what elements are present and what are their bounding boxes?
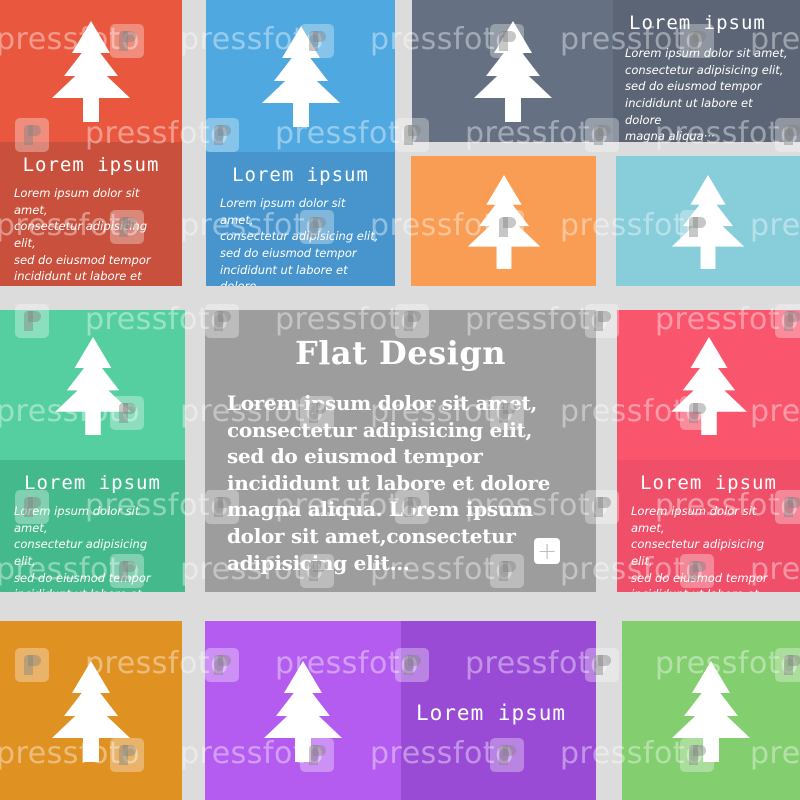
- tile-purple[interactable]: Lorem ipsum: [205, 621, 596, 800]
- christmas-tree-icon: [48, 19, 134, 123]
- body-line-1: Lorem ipsum dolor sit amet,: [14, 185, 168, 218]
- tile-teal-body: Lorem ipsum dolor sit amet, consectetur …: [14, 503, 171, 592]
- flat-design-tile-board: Lorem ipsum Lorem ipsum dolor sit amet, …: [0, 0, 800, 800]
- tile-pink-body: Lorem ipsum dolor sit amet, consectetur …: [631, 503, 786, 592]
- tile-slate-body: Lorem ipsum dolor sit amet, consectetur …: [625, 45, 790, 142]
- tile-blue-icon-area: [206, 0, 395, 152]
- feature-body: Lorem ipsum dolor sit amet, consectetur …: [227, 390, 578, 576]
- tile-teal[interactable]: Lorem ipsum Lorem ipsum dolor sit amet, …: [0, 310, 185, 592]
- body-line-2: consectetur adipisicing elit,: [14, 536, 171, 569]
- christmas-tree-icon: [258, 24, 344, 128]
- plus-icon: +: [537, 542, 557, 560]
- tile-slate-caption: Lorem ipsum Lorem ipsum dolor sit amet, …: [613, 0, 800, 142]
- body-line-3: sed do eiusmod tempor: [14, 252, 168, 269]
- body-line-2: consectetur adipisicing elit,: [220, 228, 381, 245]
- tile-green-icon-area: [622, 621, 800, 800]
- tile-purple-title: Lorem ipsum: [416, 701, 566, 725]
- body-line-2: consectetur adipisicing elit,: [14, 218, 168, 251]
- christmas-tree-icon: [668, 173, 748, 270]
- tile-pink-caption: Lorem ipsum Lorem ipsum dolor sit amet, …: [617, 460, 800, 592]
- tile-pink-title: Lorem ipsum: [631, 472, 786, 494]
- tile-amber-icon-area: [0, 621, 182, 800]
- feature-body-line-7: adipisicing elit...: [227, 550, 578, 577]
- tile-teal-icon-area: [0, 310, 185, 460]
- tile-pink[interactable]: Lorem ipsum Lorem ipsum dolor sit amet, …: [617, 310, 800, 592]
- tile-slate-title: Lorem ipsum: [629, 12, 790, 34]
- tile-amber[interactable]: [0, 621, 182, 800]
- body-line-1: Lorem ipsum dolor sit amet,: [625, 45, 790, 62]
- body-line-4: incididunt ut labore et dolore: [220, 262, 381, 286]
- tile-purple-caption: Lorem ipsum: [401, 621, 596, 800]
- body-line-1: Lorem ipsum dolor sit amet,: [220, 195, 381, 228]
- body-line-4: incididunt ut labore et dolore: [631, 586, 786, 592]
- feature-tile-flat-design[interactable]: Flat Design Lorem ipsum dolor sit amet, …: [205, 310, 596, 592]
- tile-blue-body: Lorem ipsum dolor sit amet, consectetur …: [220, 195, 381, 286]
- add-button[interactable]: +: [534, 538, 560, 564]
- tile-green[interactable]: [622, 621, 800, 800]
- feature-body-line-3: sed do eiusmod tempor: [227, 443, 578, 470]
- body-line-2: consectetur adipisicing elit,: [625, 62, 790, 79]
- christmas-tree-icon: [51, 335, 135, 436]
- christmas-tree-icon: [667, 335, 751, 436]
- tile-red-body: Lorem ipsum dolor sit amet, consectetur …: [14, 185, 168, 286]
- feature-body-line-2: consectetur adipisicing elit,: [227, 417, 578, 444]
- body-line-3: sed do eiusmod tempor: [220, 245, 381, 262]
- tile-blue[interactable]: Lorem ipsum Lorem ipsum dolor sit amet, …: [206, 0, 395, 286]
- tile-red[interactable]: Lorem ipsum Lorem ipsum dolor sit amet, …: [0, 0, 182, 286]
- body-line-3: sed do eiusmod tempor: [14, 570, 171, 587]
- tile-purple-icon-area: [205, 621, 401, 800]
- tile-red-title: Lorem ipsum: [14, 154, 168, 176]
- body-line-1: Lorem ipsum dolor sit amet,: [14, 503, 171, 536]
- body-line-4: incididunt ut labore et dolore: [625, 95, 790, 128]
- body-line-3: sed do eiusmod tempor: [625, 78, 790, 95]
- christmas-tree-icon: [260, 659, 346, 763]
- body-line-1: Lorem ipsum dolor sit amet,: [631, 503, 786, 536]
- body-line-4: incididunt ut labore et dolore: [14, 268, 168, 286]
- christmas-tree-icon: [48, 659, 134, 763]
- feature-body-line-4: incididunt ut labore et dolore: [227, 470, 578, 497]
- body-line-3: sed do eiusmod tempor: [631, 570, 786, 587]
- tile-teal-caption: Lorem ipsum Lorem ipsum dolor sit amet, …: [0, 460, 185, 592]
- body-line-5: magna aliqua···: [625, 128, 790, 142]
- christmas-tree-icon: [470, 19, 556, 123]
- tile-slate-icon-area: [412, 0, 613, 142]
- tile-pink-icon-area: [617, 310, 800, 460]
- tile-orange[interactable]: [411, 156, 596, 286]
- tile-teal-title: Lorem ipsum: [14, 472, 171, 494]
- tile-red-caption: Lorem ipsum Lorem ipsum dolor sit amet, …: [0, 142, 182, 286]
- feature-title: Flat Design: [205, 334, 596, 372]
- feature-body-line-1: Lorem ipsum dolor sit amet,: [227, 390, 578, 417]
- tile-red-icon-area: [0, 0, 182, 142]
- tile-blue-caption: Lorem ipsum Lorem ipsum dolor sit amet, …: [206, 152, 395, 286]
- christmas-tree-icon: [668, 659, 754, 763]
- christmas-tree-icon: [464, 173, 544, 270]
- tile-blue-title: Lorem ipsum: [220, 164, 381, 186]
- feature-body-line-5: magna aliqua. Lorem ipsum: [227, 496, 578, 523]
- body-line-2: consectetur adipisicing elit,: [631, 536, 786, 569]
- tile-orange-icon-area: [411, 156, 596, 286]
- tile-slate[interactable]: Lorem ipsum Lorem ipsum dolor sit amet, …: [412, 0, 800, 142]
- feature-body-line-6: dolor sit amet,consectetur: [227, 523, 578, 550]
- tile-lightblue[interactable]: [616, 156, 800, 286]
- body-line-4: incididunt ut labore et dolore: [14, 586, 171, 592]
- tile-lightblue-icon-area: [616, 156, 800, 286]
